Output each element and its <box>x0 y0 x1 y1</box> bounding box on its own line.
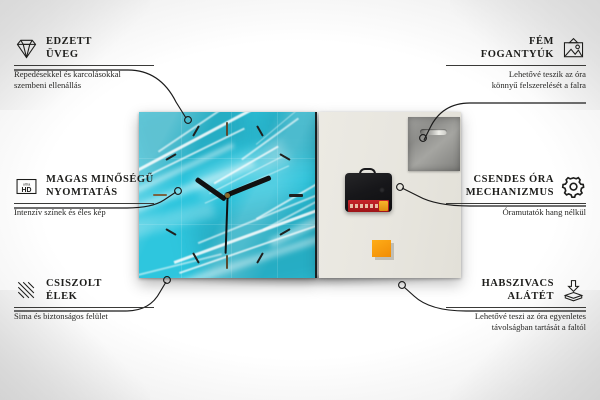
hour-marker <box>165 228 176 236</box>
foam-spacer-pad <box>372 240 391 257</box>
hour-marker <box>226 255 228 269</box>
hour-marker <box>192 125 200 136</box>
gear-icon <box>561 175 586 198</box>
callout-rule <box>446 307 586 308</box>
callout-title: HABSZIVACS ALÁTÉT <box>446 278 554 303</box>
hour-marker <box>153 194 167 196</box>
callout-rule <box>14 203 154 204</box>
minute-hand <box>225 175 271 197</box>
callout-rule <box>446 65 586 66</box>
callout-title: FÉM FOGANTYÚK <box>446 36 554 61</box>
mechanism-label-text <box>350 204 380 208</box>
clock-dial <box>139 112 317 278</box>
ultra-hd-icon-ultra-text: ultra <box>23 182 31 186</box>
callout-rule <box>446 203 586 204</box>
callout-tempered-glass: EDZETT ÜVEG Repedésekkel és karcolásokka… <box>14 36 154 90</box>
hour-marker <box>289 194 303 197</box>
hour-hand <box>195 177 227 202</box>
polished-edges-icon <box>14 279 39 302</box>
callout-description: Óramutatók hang nélkül <box>446 207 586 218</box>
callout-metal-handles: FÉM FOGANTYÚK Lehetővé teszik az óra kön… <box>446 36 586 90</box>
hour-marker <box>165 153 176 161</box>
second-hand <box>225 196 229 254</box>
mechanism-body <box>345 173 392 212</box>
hour-marker <box>192 252 200 263</box>
hour-marker <box>226 122 228 136</box>
hanger-slot <box>420 129 447 135</box>
picture-hanger-icon <box>561 37 586 60</box>
callout-description: Intenzív színek és éles kép <box>14 207 154 218</box>
callout-description: Lehetővé teszik az óra könnyű felszerelé… <box>446 69 586 90</box>
ultra-hd-icon: ultra HD <box>14 175 39 198</box>
callout-high-quality-print: ultra HD MAGAS MINŐSÉGŰ NYOMTATÁS Intenz… <box>14 174 154 218</box>
mechanism-label <box>348 200 389 212</box>
hour-marker <box>256 252 264 263</box>
callout-silent-mechanism: CSENDES ÓRA MECHANIZMUS Óramutatók hang … <box>446 174 586 218</box>
mechanism-label-badge <box>379 201 388 211</box>
infographic-canvas: EDZETT ÜVEG Repedésekkel és karcolásokka… <box>0 0 600 400</box>
callout-description: Sima és biztonságos felület <box>14 311 154 322</box>
quartz-mechanism <box>345 168 392 212</box>
callout-title: EDZETT ÜVEG <box>46 36 92 61</box>
clock-back-panel <box>319 112 461 278</box>
callout-rule <box>14 307 154 308</box>
callout-description: Repedésekkel és karcolásokkal szembeni e… <box>14 69 154 90</box>
metal-hanger-plate <box>408 117 460 171</box>
ultra-hd-icon-hd-text: HD <box>22 187 32 194</box>
foam-pad-arrow-icon <box>561 279 586 302</box>
callout-title: CSISZOLT ÉLEK <box>46 278 102 303</box>
hour-marker <box>279 153 290 161</box>
clock-center-pin <box>225 193 230 198</box>
callout-description: Lehetővé teszi az óra egyenletes távolsá… <box>446 311 586 332</box>
mechanism-setting-knob <box>379 187 385 193</box>
callout-title: MAGAS MINŐSÉGŰ NYOMTATÁS <box>46 174 154 199</box>
callout-title: CSENDES ÓRA MECHANIZMUS <box>446 174 554 199</box>
callout-rule <box>14 65 154 66</box>
hour-marker <box>279 228 290 236</box>
callout-polished-edges: CSISZOLT ÉLEK Sima és biztonságos felüle… <box>14 278 154 322</box>
diamond-icon <box>14 37 39 60</box>
clock-face-panel <box>139 112 317 278</box>
callout-foam-pad: HABSZIVACS ALÁTÉT Lehetővé teszi az óra … <box>446 278 586 332</box>
hour-marker <box>256 125 264 136</box>
product-image <box>139 112 461 278</box>
